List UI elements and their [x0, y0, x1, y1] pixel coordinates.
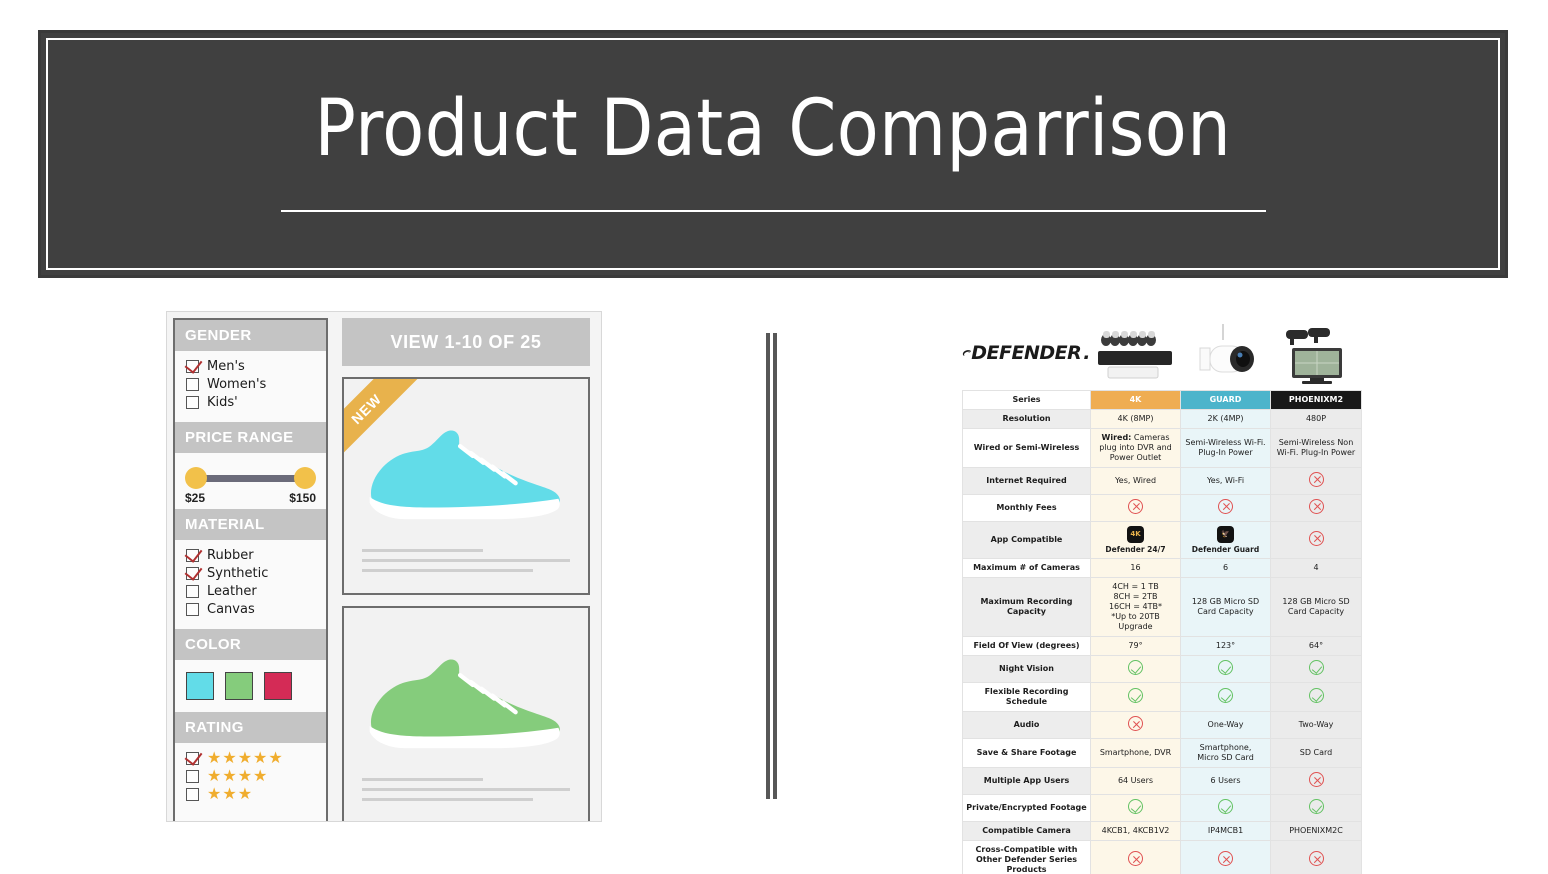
product-card[interactable] [342, 606, 590, 822]
filter-option-rating-5[interactable]: ★★★★★ [186, 751, 326, 766]
cell-guard: Semi-Wireless Wi-Fi. Plug-In Power [1181, 429, 1271, 468]
row-label: Field Of View (degrees) [963, 637, 1091, 656]
row-label: Private/Encrypted Footage [963, 795, 1091, 822]
check-icon [1218, 660, 1233, 675]
filter-option-label: Men's [207, 359, 245, 374]
sneaker-icon [358, 415, 572, 527]
table-row: AudioOne-WayTwo-Way [963, 712, 1362, 739]
filter-option-mens[interactable]: Men's [186, 359, 326, 374]
cell-guard: 6 [1181, 559, 1271, 578]
cross-icon [1309, 851, 1324, 866]
comparison-table: Series 4K GUARD PHOENIXM2 Resolution4K (… [962, 390, 1362, 874]
cell-phoenixm2 [1271, 522, 1362, 559]
results-count-bar: VIEW 1-10 OF 25 [342, 318, 590, 366]
check-icon [1309, 660, 1324, 675]
table-row: Wired or Semi-WirelessWired: Cameras plu… [963, 429, 1362, 468]
header-column-4k: 4K [1091, 391, 1181, 410]
cell-4k: 79° [1091, 637, 1181, 656]
table-row: Save & Share FootageSmartphone, DVRSmart… [963, 739, 1362, 768]
filter-heading-price-range: PRICE RANGE [175, 422, 326, 453]
table-row: Maximum # of Cameras1664 [963, 559, 1362, 578]
table-row: Multiple App Users64 Users6 Users [963, 768, 1362, 795]
checkbox-icon[interactable] [186, 396, 199, 409]
cell-phoenixm2 [1271, 656, 1362, 683]
color-swatch-green[interactable] [225, 672, 253, 700]
slide-canvas: Product Data Comparrison GENDER Men's Wo… [0, 0, 1548, 874]
table-row: App Compatible4KDefender 24/7🦅Defender G… [963, 522, 1362, 559]
checkbox-icon[interactable] [186, 585, 199, 598]
check-icon [1128, 660, 1143, 675]
slider-track [196, 475, 305, 482]
filter-group-gender: Men's Women's Kids' [175, 351, 326, 422]
price-range-values: $25 $150 [185, 491, 316, 505]
table-row: Night Vision [963, 656, 1362, 683]
table-row: Private/Encrypted Footage [963, 795, 1362, 822]
row-label: Multiple App Users [963, 768, 1091, 795]
cross-icon [1309, 531, 1324, 546]
cell-phoenixm2: 4 [1271, 559, 1362, 578]
check-icon [1128, 688, 1143, 703]
cell-phoenixm2: SD Card [1271, 739, 1362, 768]
check-icon [1218, 799, 1233, 814]
row-label: Resolution [963, 410, 1091, 429]
table-row: Compatible Camera4KCB1, 4KCB1V2IP4MCB1PH… [963, 822, 1362, 841]
checkbox-icon[interactable] [186, 603, 199, 616]
filter-heading-material: MATERIAL [175, 509, 326, 540]
cell-guard: Yes, Wi-Fi [1181, 468, 1271, 495]
row-label: Maximum Recording Capacity [963, 578, 1091, 637]
cell-phoenixm2: 64° [1271, 637, 1362, 656]
cell-phoenixm2: PHOENIXM2C [1271, 822, 1362, 841]
cell-phoenixm2 [1271, 795, 1362, 822]
cell-emphasis: Wired: [1102, 433, 1132, 442]
cell-4k: Wired: Cameras plug into DVR and Power O… [1091, 429, 1181, 468]
header-series-label: Series [963, 391, 1091, 410]
filter-option-label: Kids' [207, 395, 238, 410]
product-text-placeholder [362, 549, 570, 579]
filter-heading-rating: RATING [175, 712, 326, 743]
star-rating-icon: ★★★★ [207, 769, 268, 784]
cell-4k [1091, 495, 1181, 522]
cell-guard: Smartphone,Micro SD Card [1181, 739, 1271, 768]
cell-guard: 2K (4MP) [1181, 410, 1271, 429]
title-banner: Product Data Comparrison [38, 30, 1508, 278]
price-max-label: $150 [289, 491, 316, 505]
cell-guard: One-Way [1181, 712, 1271, 739]
cell-guard [1181, 683, 1271, 712]
comparison-table-body: Resolution4K (8MP)2K (4MP)480PWired or S… [963, 410, 1362, 874]
cell-4k: 4K (8MP) [1091, 410, 1181, 429]
checkbox-icon[interactable] [186, 788, 199, 801]
filter-option-label: Synthetic [207, 566, 268, 581]
row-label: Flexible Recording Schedule [963, 683, 1091, 712]
cross-icon [1309, 472, 1324, 487]
eagle-icon [962, 343, 971, 363]
filter-group-color [175, 660, 326, 712]
filter-option-canvas[interactable]: Canvas [186, 602, 326, 617]
cell-guard: IP4MCB1 [1181, 822, 1271, 841]
cell-4k: 4CH = 1 TB8CH = 2TB16CH = 4TB**Up to 20T… [1091, 578, 1181, 637]
divider-line-right [773, 333, 777, 799]
product-card[interactable]: NEW [342, 377, 590, 595]
app-name-label: Defender Guard [1183, 545, 1268, 554]
defender-wordmark: DEFENDER. [971, 342, 1090, 364]
table-row: Internet RequiredYes, WiredYes, Wi-Fi [963, 468, 1362, 495]
header-column-phoenixm2: PHOENIXM2 [1271, 391, 1362, 410]
cell-4k [1091, 683, 1181, 712]
cross-icon [1128, 851, 1143, 866]
row-label: Monthly Fees [963, 495, 1091, 522]
table-row: Flexible Recording Schedule [963, 683, 1362, 712]
app-icon: 4K [1127, 526, 1144, 543]
cross-icon [1128, 499, 1143, 514]
header-column-guard: GUARD [1181, 391, 1271, 410]
shoe-store-filter-screenshot: GENDER Men's Women's Kids' PRICE RANGE [166, 311, 602, 822]
title-banner-inner: Product Data Comparrison [46, 38, 1500, 270]
cell-4k: 16 [1091, 559, 1181, 578]
app-name-label: Defender 24/7 [1093, 545, 1178, 554]
table-row: Resolution4K (8MP)2K (4MP)480P [963, 410, 1362, 429]
defender-comparison-table-screenshot: DEFENDER. [962, 318, 1361, 874]
checkbox-icon[interactable] [186, 752, 199, 765]
row-label: Audio [963, 712, 1091, 739]
filter-heading-color: COLOR [175, 629, 326, 660]
cell-guard: 6 Users [1181, 768, 1271, 795]
row-label: Internet Required [963, 468, 1091, 495]
cell-phoenixm2 [1271, 683, 1362, 712]
row-label: Save & Share Footage [963, 739, 1091, 768]
cell-phoenixm2 [1271, 495, 1362, 522]
cell-phoenixm2: Semi-Wireless Non Wi-Fi. Plug-In Power [1271, 429, 1362, 468]
cell-4k [1091, 795, 1181, 822]
cell-4k: 4KCB1, 4KCB1V2 [1091, 822, 1181, 841]
cell-guard [1181, 841, 1271, 874]
defender-logo: DEFENDER. [962, 318, 1090, 388]
price-range-slider[interactable] [185, 467, 316, 489]
cell-guard [1181, 795, 1271, 822]
cross-icon [1218, 499, 1233, 514]
color-swatch-cyan[interactable] [186, 672, 214, 700]
filter-option-synthetic[interactable]: Synthetic [186, 566, 326, 581]
checkbox-icon[interactable] [186, 378, 199, 391]
filter-option-rubber[interactable]: Rubber [186, 548, 326, 563]
cell-4k: Smartphone, DVR [1091, 739, 1181, 768]
table-row: Cross-Compatible with Other Defender Ser… [963, 841, 1362, 874]
cell-4k [1091, 841, 1181, 874]
vertical-divider [766, 333, 777, 799]
cell-guard: 128 GB Micro SD Card Capacity [1181, 578, 1271, 637]
table-header-row: Series 4K GUARD PHOENIXM2 [963, 391, 1362, 410]
comparison-table-header-images: DEFENDER. [962, 318, 1361, 390]
row-label: Maximum # of Cameras [963, 559, 1091, 578]
filter-option-leather[interactable]: Leather [186, 584, 326, 599]
check-icon [1218, 688, 1233, 703]
divider-line-left [766, 333, 770, 799]
cell-4k [1091, 712, 1181, 739]
app-icon: 🦅 [1217, 526, 1234, 543]
check-icon [1309, 799, 1324, 814]
cell-guard: 🦅Defender Guard [1181, 522, 1271, 559]
filter-option-rating-4[interactable]: ★★★★ [186, 769, 326, 784]
sneaker-icon [358, 644, 572, 756]
cell-4k: 64 Users [1091, 768, 1181, 795]
product-image-4k-dvr-system [1090, 318, 1180, 388]
filter-option-label: Leather [207, 584, 257, 599]
price-min-label: $25 [185, 491, 205, 505]
check-icon [1128, 799, 1143, 814]
cross-icon [1309, 772, 1324, 787]
row-label: Wired or Semi-Wireless [963, 429, 1091, 468]
filter-heading-gender: GENDER [175, 320, 326, 351]
product-text-placeholder [362, 778, 570, 808]
product-image-phoenixm2-monitor-system [1270, 318, 1360, 388]
row-label: App Compatible [963, 522, 1091, 559]
filter-option-label: Canvas [207, 602, 255, 617]
filter-group-price-range: $25 $150 [175, 453, 326, 509]
cross-icon [1218, 851, 1233, 866]
check-icon [1309, 688, 1324, 703]
cross-icon [1128, 716, 1143, 731]
filter-option-womens[interactable]: Women's [186, 377, 326, 392]
filter-sidebar: GENDER Men's Women's Kids' PRICE RANGE [173, 318, 328, 822]
cell-guard [1181, 495, 1271, 522]
row-label: Cross-Compatible with Other Defender Ser… [963, 841, 1091, 874]
filter-group-rating: ★★★★★ ★★★★ ★★★ [175, 743, 326, 814]
filter-option-rating-3[interactable]: ★★★ [186, 787, 326, 802]
cell-guard: 123° [1181, 637, 1271, 656]
cell-phoenixm2 [1271, 841, 1362, 874]
cell-phoenixm2 [1271, 468, 1362, 495]
table-row: Monthly Fees [963, 495, 1362, 522]
filter-option-label: Women's [207, 377, 266, 392]
star-rating-icon: ★★★★★ [207, 751, 284, 766]
checkbox-icon[interactable] [186, 360, 199, 373]
star-rating-icon: ★★★ [207, 787, 253, 802]
product-image-guard-wifi-camera [1180, 318, 1270, 388]
row-label: Night Vision [963, 656, 1091, 683]
table-row: Maximum Recording Capacity4CH = 1 TB8CH … [963, 578, 1362, 637]
cell-phoenixm2: 128 GB Micro SD Card Capacity [1271, 578, 1362, 637]
cell-phoenixm2: Two-Way [1271, 712, 1362, 739]
filter-option-kids[interactable]: Kids' [186, 395, 326, 410]
cell-phoenixm2: 480P [1271, 410, 1362, 429]
slider-handle-min[interactable] [185, 467, 207, 489]
cell-guard [1181, 656, 1271, 683]
row-label: Compatible Camera [963, 822, 1091, 841]
cell-phoenixm2 [1271, 768, 1362, 795]
table-row: Field Of View (degrees)79°123°64° [963, 637, 1362, 656]
cell-4k: Yes, Wired [1091, 468, 1181, 495]
cross-icon [1309, 499, 1324, 514]
cell-4k: 4KDefender 24/7 [1091, 522, 1181, 559]
checkbox-icon[interactable] [186, 567, 199, 580]
cell-4k [1091, 656, 1181, 683]
checkbox-icon[interactable] [186, 549, 199, 562]
product-results-column: VIEW 1-10 OF 25 NEW [342, 318, 590, 822]
filter-option-label: Rubber [207, 548, 254, 563]
color-swatch-crimson[interactable] [264, 672, 292, 700]
slider-handle-max[interactable] [294, 467, 316, 489]
title-underline-rule [281, 210, 1266, 212]
page-title: Product Data Comparrison [315, 90, 1232, 168]
filter-group-material: Rubber Synthetic Leather Canvas [175, 540, 326, 629]
checkbox-icon[interactable] [186, 770, 199, 783]
